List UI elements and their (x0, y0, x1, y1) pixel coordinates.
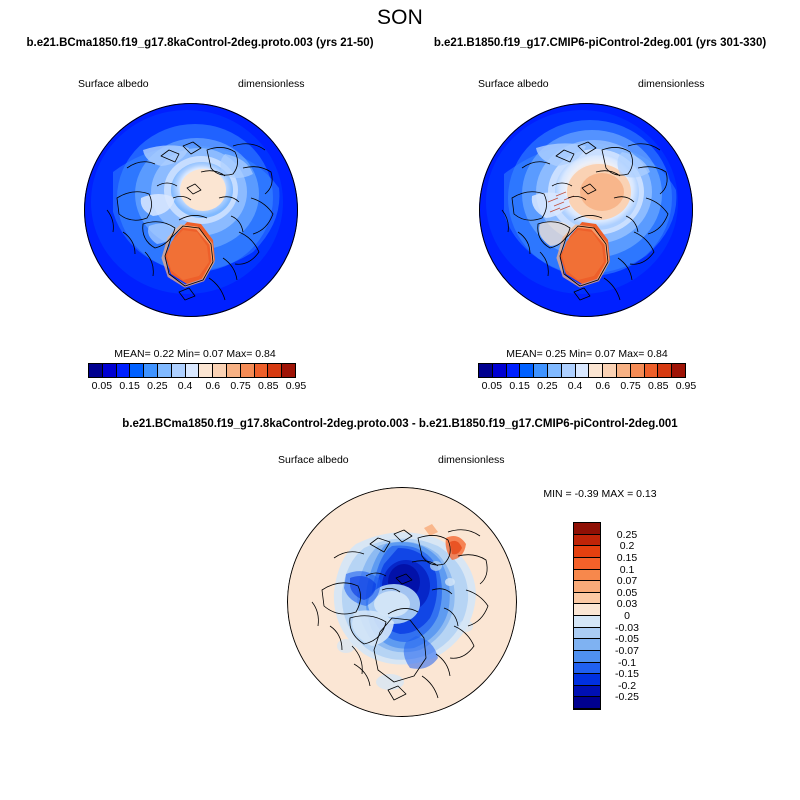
colorbar-swatch (562, 364, 576, 377)
colorbar-swatch (268, 364, 282, 377)
colorbar-swatch (493, 364, 507, 377)
colorbar-swatch (672, 364, 685, 377)
colorbar-swatch (631, 364, 645, 377)
right-stats-line: MEAN= 0.25 Min= 0.07 Max= 0.84 (462, 348, 712, 360)
diff-colorbar-swatch (574, 663, 600, 675)
diff-colorbar-tick-label: 0.1 (604, 564, 650, 576)
diff-colorbar-tick-label: -0.05 (604, 633, 650, 645)
colorbar-tick-label: 0.05 (92, 380, 112, 392)
diff-colorbar-tick-label: -0.2 (604, 680, 650, 692)
right-colorbar-labels: 0.050.150.250.40.60.750.850.95 (478, 378, 686, 394)
colorbar-tick-label: 0.85 (258, 380, 278, 392)
colorbar-swatch (158, 364, 172, 377)
diff-colorbar-swatch (574, 628, 600, 640)
colorbar-swatch (241, 364, 255, 377)
colorbar-swatch (282, 364, 295, 377)
diff-colorbar-swatch (574, 616, 600, 628)
colorbar-tick-label: 0.95 (286, 380, 306, 392)
colorbar-swatch (589, 364, 603, 377)
diff-map-svg (286, 486, 518, 718)
colorbar-swatch (117, 364, 131, 377)
diff-colorbar-tick-label: 0.07 (604, 575, 650, 587)
colorbar-swatch (255, 364, 269, 377)
diff-colorbar-swatch (574, 593, 600, 605)
colorbar-tick-label: 0.25 (537, 380, 557, 392)
diff-colorbar-tick-label: -0.1 (604, 657, 650, 669)
left-panel-title: b.e21.BCma1850.f19_g17.8kaControl-2deg.p… (0, 37, 400, 49)
left-variable-label: Surface albedo (78, 78, 149, 90)
colorbar-tick-label: 0.15 (119, 380, 139, 392)
diff-colorbar-labels: 0.250.20.150.10.070.050.030-0.03-0.05-0.… (604, 523, 650, 709)
diff-colorbar-swatch (574, 686, 600, 698)
diff-colorbar-swatch (574, 523, 600, 535)
right-polar-map[interactable] (478, 102, 694, 318)
diff-colorbar-swatches: 0.250.20.150.10.070.050.030-0.03-0.05-0.… (573, 522, 601, 710)
colorbar-swatch (172, 364, 186, 377)
diff-colorbar-swatch (574, 558, 600, 570)
colorbar-tick-label: 0.6 (205, 380, 220, 392)
colorbar-swatch (507, 364, 521, 377)
diff-colorbar-tick-label: 0 (604, 610, 650, 622)
colorbar-swatch (520, 364, 534, 377)
colorbar-swatch (534, 364, 548, 377)
diff-colorbar-tick-label: 0.15 (604, 552, 650, 564)
colorbar-swatch (645, 364, 659, 377)
diff-colorbar-tick-label: 0.2 (604, 540, 650, 552)
colorbar-swatch (199, 364, 213, 377)
diff-colorbar-tick-label: 0.05 (604, 587, 650, 599)
colorbar-swatch (479, 364, 493, 377)
diff-minmax-line: MIN = -0.39 MAX = 0.13 (460, 488, 740, 500)
colorbar-swatch (576, 364, 590, 377)
colorbar-swatch (89, 364, 103, 377)
diff-panel-title: b.e21.BCma1850.f19_g17.8kaControl-2deg.p… (0, 418, 800, 430)
diff-colorbar-swatch (574, 570, 600, 582)
colorbar-swatch (186, 364, 200, 377)
colorbar-tick-label: 0.75 (230, 380, 250, 392)
diff-polar-map[interactable] (286, 486, 518, 718)
diff-colorbar-tick-label: -0.15 (604, 668, 650, 680)
right-colorbar[interactable]: 0.050.150.250.40.60.750.850.95 (478, 363, 686, 394)
left-map-svg (83, 102, 299, 318)
left-polar-map[interactable] (83, 102, 299, 318)
colorbar-swatch (617, 364, 631, 377)
diff-colorbar-swatch (574, 546, 600, 558)
colorbar-swatch (227, 364, 241, 377)
diff-colorbar-swatch (574, 604, 600, 616)
diff-colorbar-swatch (574, 697, 600, 709)
colorbar-swatch (603, 364, 617, 377)
colorbar-tick-label: 0.25 (147, 380, 167, 392)
colorbar-swatch (548, 364, 562, 377)
diff-colorbar-swatch (574, 651, 600, 663)
colorbar-swatch (103, 364, 117, 377)
left-stats-line: MEAN= 0.22 Min= 0.07 Max= 0.84 (70, 348, 320, 360)
left-colorbar[interactable]: 0.050.150.250.40.60.750.850.95 (88, 363, 296, 394)
colorbar-tick-label: 0.95 (676, 380, 696, 392)
diff-colorbar[interactable]: 0.250.20.150.10.070.050.030-0.03-0.05-0.… (573, 522, 601, 710)
diff-colorbar-swatch (574, 581, 600, 593)
right-panel-title: b.e21.B1850.f19_g17.CMIP6-piControl-2deg… (400, 37, 800, 49)
diff-colorbar-tick-label: 0.25 (604, 529, 650, 541)
colorbar-tick-label: 0.85 (648, 380, 668, 392)
colorbar-tick-label: 0.75 (620, 380, 640, 392)
colorbar-swatch (130, 364, 144, 377)
left-units-label: dimensionless (238, 78, 305, 90)
right-map-svg (478, 102, 694, 318)
colorbar-tick-label: 0.15 (509, 380, 529, 392)
diff-colorbar-tick-label: 0.03 (604, 598, 650, 610)
diff-colorbar-swatch (574, 674, 600, 686)
diff-colorbar-swatch (574, 535, 600, 547)
left-colorbar-swatches (88, 363, 296, 378)
colorbar-tick-label: 0.6 (595, 380, 610, 392)
diff-units-label: dimensionless (438, 454, 505, 466)
diff-colorbar-swatch (574, 639, 600, 651)
colorbar-swatch (144, 364, 158, 377)
colorbar-tick-label: 0.4 (568, 380, 583, 392)
colorbar-swatch (658, 364, 672, 377)
left-colorbar-labels: 0.050.150.250.40.60.750.850.95 (88, 378, 296, 394)
right-variable-label: Surface albedo (478, 78, 549, 90)
season-title: SON (0, 6, 800, 30)
colorbar-tick-label: 0.4 (178, 380, 193, 392)
right-colorbar-swatches (478, 363, 686, 378)
diff-colorbar-tick-label: -0.25 (604, 691, 650, 703)
diff-colorbar-tick-label: -0.03 (604, 622, 650, 634)
colorbar-tick-label: 0.05 (482, 380, 502, 392)
diff-variable-label: Surface albedo (278, 454, 349, 466)
right-units-label: dimensionless (638, 78, 705, 90)
colorbar-swatch (213, 364, 227, 377)
diff-colorbar-tick-label: -0.07 (604, 645, 650, 657)
